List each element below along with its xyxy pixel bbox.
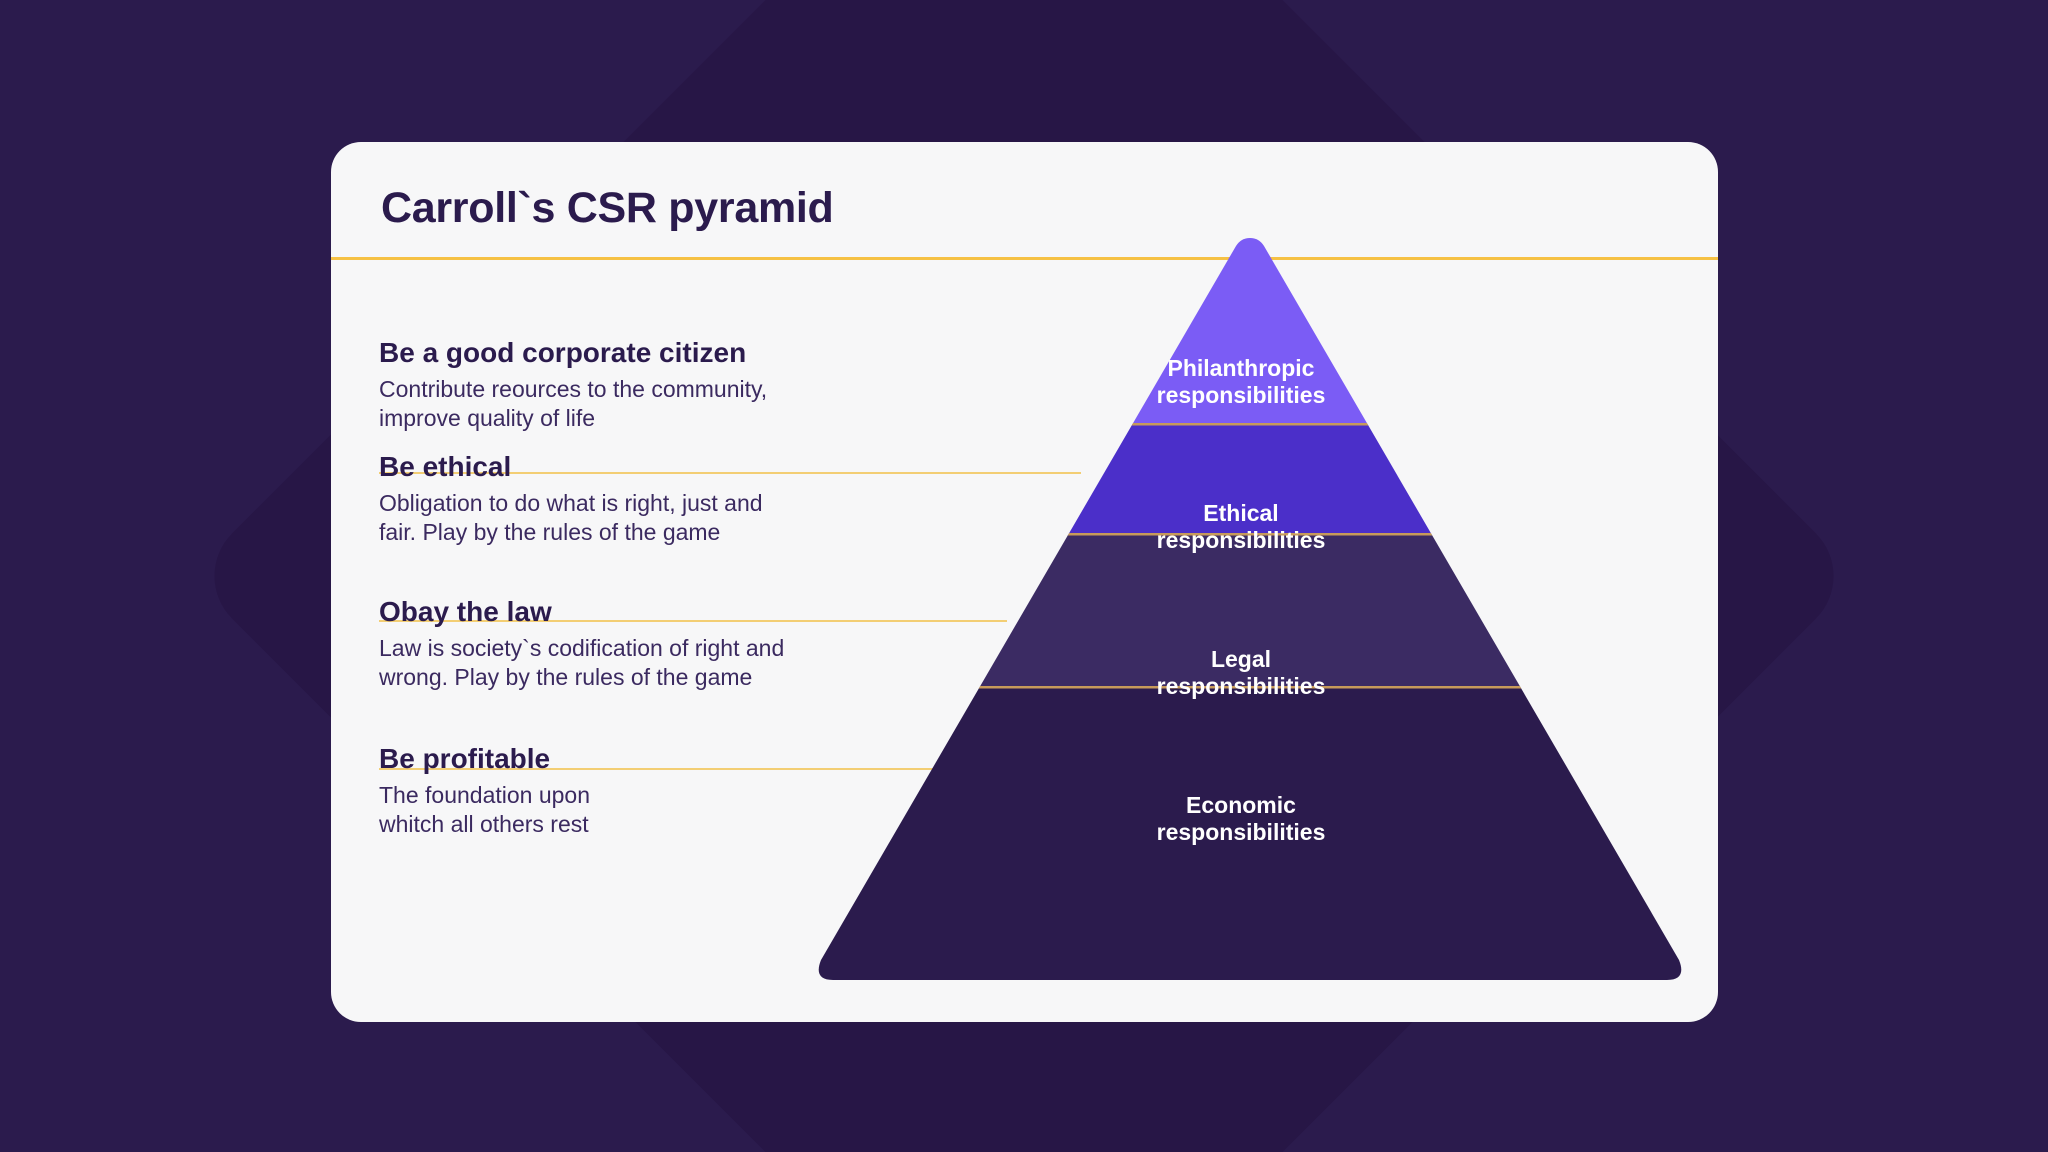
csr-pyramid-card: Carroll`s CSR pyramid Be a good corporat…: [331, 142, 1718, 1022]
pyramid-label-line-1: Ethical: [1203, 500, 1278, 526]
level-row-ethical: Be ethical Obligation to do what is righ…: [379, 450, 1099, 547]
level-description-line-1: Contribute reources to the community,: [379, 376, 767, 402]
level-description-philanthropic: Contribute reources to the community, im…: [379, 375, 1099, 433]
level-description-line-1: Obligation to do what is right, just and: [379, 490, 763, 516]
level-description-line-2: fair. Play by the rules of the game: [379, 519, 720, 545]
pyramid-graphic: Philanthropic responsibilities Ethical r…: [331, 142, 1718, 1022]
page-title: Carroll`s CSR pyramid: [381, 184, 834, 233]
level-description-economic: The foundation upon whitch all others re…: [379, 781, 1099, 839]
pyramid-label-line-2: responsibilities: [1157, 673, 1326, 699]
level-description-line-1: The foundation upon: [379, 782, 590, 808]
level-description-line-2: whitch all others rest: [379, 811, 589, 837]
level-description-line-1: Law is society`s codification of right a…: [379, 635, 784, 661]
level-heading-ethical: Be ethical: [379, 450, 1099, 484]
title-divider: [331, 257, 1718, 260]
pyramid-label-line-2: responsibilities: [1157, 382, 1326, 408]
level-description-line-2: wrong. Play by the rules of the game: [379, 664, 752, 690]
pyramid-label-line-2: responsibilities: [1157, 527, 1326, 553]
pyramid-svg: [331, 142, 1718, 1022]
level-description-ethical: Obligation to do what is right, just and…: [379, 489, 1099, 547]
level-row-legal: Obay the law Law is society`s codificati…: [379, 595, 1099, 692]
level-description-line-2: improve quality of life: [379, 405, 595, 431]
level-heading-economic: Be profitable: [379, 742, 1099, 776]
pyramid-label-line-2: responsibilities: [1157, 819, 1326, 845]
pyramid-label-line-1: Philanthropic: [1168, 355, 1315, 381]
level-row-philanthropic: Be a good corporate citizen Contribute r…: [379, 336, 1099, 433]
pyramid-label-line-1: Economic: [1186, 792, 1296, 818]
level-heading-philanthropic: Be a good corporate citizen: [379, 336, 1099, 370]
level-row-economic: Be profitable The foundation upon whitch…: [379, 742, 1099, 839]
level-description-legal: Law is society`s codification of right a…: [379, 634, 1099, 692]
level-heading-legal: Obay the law: [379, 595, 1099, 629]
pyramid-label-line-1: Legal: [1211, 646, 1271, 672]
